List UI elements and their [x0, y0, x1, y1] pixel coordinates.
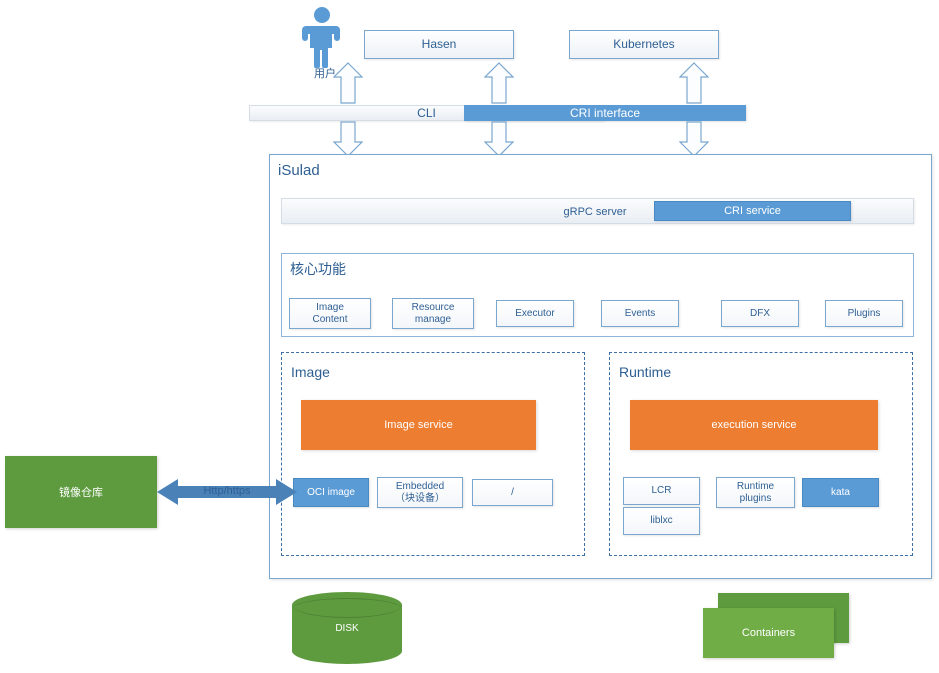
runtime-backend-line2: plugins: [740, 493, 772, 505]
core-module-line1: Events: [625, 308, 656, 320]
hasen-box[interactable]: Hasen: [364, 30, 514, 59]
core-module-executor[interactable]: Executor: [496, 300, 574, 327]
image-backend-oci-image[interactable]: OCI image: [293, 478, 369, 507]
cri-interface-label: CRI interface: [464, 106, 746, 120]
http-https-label: Http/https: [187, 485, 267, 497]
arrow-cri-to-isulad-down-left: [484, 121, 514, 157]
execution-service-box[interactable]: execution service: [630, 400, 878, 450]
kubernetes-label: Kubernetes: [613, 38, 674, 52]
runtime-backend-runtime-plugins[interactable]: Runtime plugins: [716, 477, 795, 508]
image-backend-line1: Embedded: [396, 481, 444, 493]
core-module-events[interactable]: Events: [601, 300, 679, 327]
runtime-backend-lcr[interactable]: LCR: [623, 477, 700, 505]
image-service-box[interactable]: Image service: [301, 400, 536, 450]
arrow-cli-to-isulad-down: [333, 121, 363, 157]
core-module-dfx[interactable]: DFX: [721, 300, 799, 327]
core-module-image-content[interactable]: Image Content: [289, 298, 371, 329]
core-module-plugins[interactable]: Plugins: [825, 300, 903, 327]
disk-cylinder: DISK: [292, 592, 402, 664]
core-function-group: [281, 253, 914, 337]
image-group: [281, 352, 585, 556]
hasen-label: Hasen: [422, 38, 457, 52]
runtime-backend-label: kata: [831, 487, 850, 498]
image-backend-line2: （块设备）: [395, 493, 445, 505]
core-module-line1: DFX: [750, 308, 770, 320]
runtime-backend-label: LCR: [651, 485, 671, 497]
cri-service-box[interactable]: CRI service: [654, 201, 851, 221]
cri-service-label: CRI service: [724, 205, 781, 217]
image-backend-label: OCI image: [307, 487, 355, 498]
image-registry-box[interactable]: 镜像仓库: [5, 456, 157, 528]
grpc-server-label: gRPC server: [540, 206, 650, 218]
arrow-cri-to-isulad-down-right: [679, 121, 709, 157]
core-module-line1: Plugins: [848, 308, 881, 320]
runtime-backend-line1: Runtime: [737, 481, 774, 493]
runtime-group-title: Runtime: [619, 364, 671, 380]
image-group-title: Image: [291, 364, 330, 380]
kubernetes-box[interactable]: Kubernetes: [569, 30, 719, 59]
isulad-title: iSulad: [278, 162, 320, 179]
diagram-canvas: 用户 Hasen Kubernetes CLI CRI interface: [0, 0, 939, 673]
image-backend-label: /: [511, 487, 514, 499]
containers-label: Containers: [742, 627, 795, 639]
image-backend-slash[interactable]: /: [472, 479, 553, 506]
containers-front-box[interactable]: Containers: [703, 608, 834, 658]
execution-service-label: execution service: [712, 419, 797, 431]
image-registry-label: 镜像仓库: [59, 484, 103, 500]
core-function-title: 核心功能: [290, 259, 346, 279]
image-service-label: Image service: [384, 419, 452, 431]
person-icon: [296, 6, 348, 68]
arrow-user-to-cli-up: [333, 62, 363, 104]
disk-label: DISK: [292, 592, 402, 664]
image-backend-embedded[interactable]: Embedded （块设备）: [377, 477, 463, 508]
arrow-k8s-to-cri-up: [679, 62, 709, 104]
runtime-backend-kata[interactable]: kata: [802, 478, 879, 507]
core-module-resource-manage[interactable]: Resource manage: [392, 298, 474, 329]
core-module-line1: Resource: [412, 302, 455, 314]
core-module-line1: Image: [316, 302, 344, 314]
core-module-line2: Content: [312, 314, 347, 326]
core-module-line1: Executor: [515, 308, 554, 320]
core-module-line2: manage: [415, 314, 451, 326]
arrow-hasen-to-cri-up: [484, 62, 514, 104]
runtime-backend-liblxc[interactable]: liblxc: [623, 507, 700, 535]
runtime-backend-label: liblxc: [650, 515, 672, 527]
